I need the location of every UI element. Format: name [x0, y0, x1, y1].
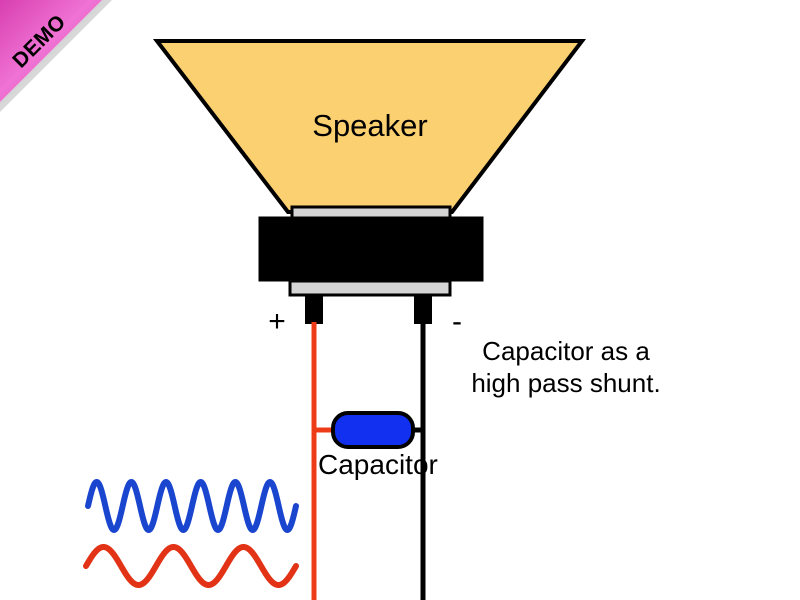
speaker-label: Speaker	[312, 108, 427, 143]
demo-banner: DEMO	[0, 0, 112, 112]
diagram-canvas: Speaker + - Capacitor Capacitor as a hig…	[0, 0, 800, 600]
positive-terminal-label: +	[268, 305, 286, 338]
caption-line-2: high pass shunt.	[471, 368, 660, 398]
speaker-bottom-plate	[290, 281, 450, 295]
speaker-capacitor-diagram: Speaker + - Capacitor Capacitor as a hig…	[0, 0, 800, 600]
terminal-negative-tab	[414, 294, 432, 324]
high-frequency-waveform	[88, 482, 296, 530]
terminal-positive-tab	[305, 294, 323, 324]
low-frequency-waveform	[86, 547, 296, 585]
speaker-magnet-body	[260, 218, 482, 280]
caption-line-1: Capacitor as a	[482, 336, 650, 366]
negative-terminal-label: -	[452, 305, 462, 338]
capacitor-body	[333, 413, 413, 447]
capacitor-label: Capacitor	[318, 449, 438, 480]
